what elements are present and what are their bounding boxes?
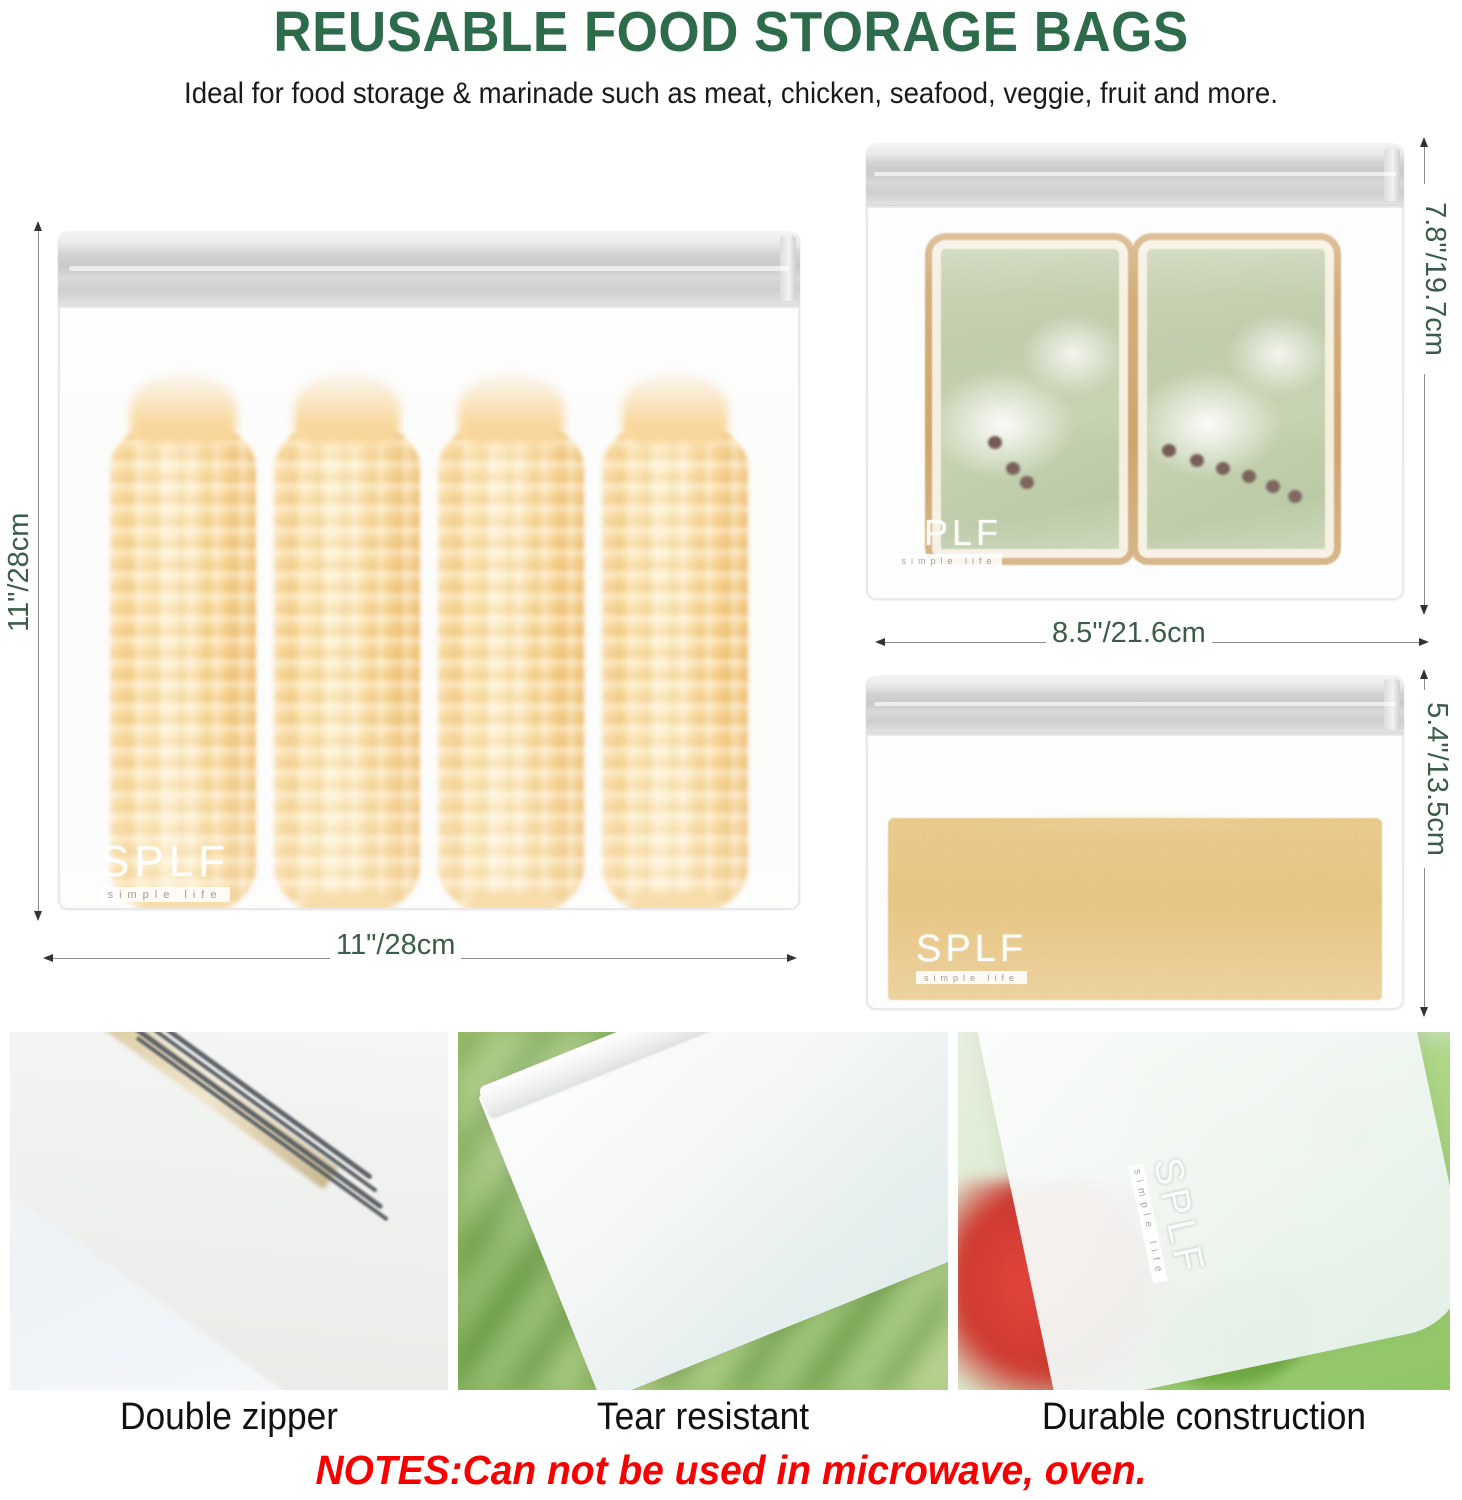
feature-caption-tear-resistant: Tear resistant — [475, 1392, 931, 1444]
arrow-head-down-icon — [1420, 605, 1428, 615]
zipper-tab-icon — [780, 236, 796, 300]
warning-note: NOTES:Can not be used in microwave, oven… — [37, 1444, 1426, 1496]
dimension-line-corn-height — [38, 230, 39, 912]
red-bean — [1020, 476, 1034, 489]
arrow-head-up-icon — [1420, 137, 1428, 147]
brand-tagline: simple life — [100, 887, 230, 902]
red-bean — [1266, 480, 1280, 493]
dimension-label-corn-width: 11"/28cm — [330, 928, 461, 962]
page-title: REUSABLE FOOD STORAGE BAGS — [51, 2, 1411, 62]
brand-logo: SPLF simple life — [100, 840, 230, 902]
dimension-label-sandwich-height: 7.8"/19.7cm — [1418, 184, 1452, 374]
feature-image-double-zipper — [10, 1032, 448, 1390]
red-bean — [1006, 462, 1020, 475]
brand-mark: SPLF — [916, 930, 1027, 968]
corn-cob — [602, 418, 748, 910]
zipper-strip-icon — [58, 232, 800, 306]
red-bean — [1190, 454, 1204, 467]
zipper-tab-icon — [1384, 679, 1400, 729]
brand-mark: SPLF — [896, 515, 1002, 551]
toast-slice — [932, 240, 1128, 558]
brand-logo: SPLF simple life — [916, 930, 1027, 984]
red-bean — [1288, 490, 1302, 503]
dimension-label-corn-height: 11"/28cm — [2, 508, 36, 638]
arrow-head-left-icon — [875, 638, 885, 646]
red-bean — [988, 436, 1002, 449]
product-infographic: REUSABLE FOOD STORAGE BAGS Ideal for foo… — [0, 0, 1462, 1500]
brand-tagline: simple life — [896, 554, 1002, 567]
bag-body — [58, 306, 800, 910]
corn-cob — [274, 418, 420, 910]
zipper-strip-icon — [866, 144, 1404, 206]
red-bean — [1242, 470, 1256, 483]
arrow-head-right-icon — [1419, 638, 1429, 646]
brand-logo: SPLF simple life — [896, 515, 1002, 567]
feature-caption-durable-construction: Durable construction — [975, 1392, 1433, 1444]
feature-image-tear-resistant — [458, 1032, 948, 1390]
dimension-label-grain-height: 5.4"/13.5cm — [1420, 690, 1454, 868]
arrow-head-right-icon — [787, 954, 797, 962]
arrow-head-down-icon — [1420, 1007, 1428, 1017]
dimension-label-sandwich-width: 8.5"/21.6cm — [1046, 616, 1212, 650]
corn-cob — [438, 418, 584, 910]
arrow-head-up-icon — [34, 221, 42, 231]
toast-slice — [1138, 240, 1334, 558]
zipper-strip-icon — [866, 676, 1404, 734]
feature-caption-double-zipper: Double zipper — [25, 1392, 432, 1444]
brand-mark: SPLF — [100, 840, 230, 884]
red-bean — [1162, 444, 1176, 457]
arrow-head-down-icon — [34, 911, 42, 921]
brand-tagline: simple life — [916, 971, 1027, 984]
zipper-tab-icon — [1384, 148, 1400, 202]
arrow-head-up-icon — [1420, 669, 1428, 679]
product-image-large-corn-bag — [58, 232, 800, 910]
feature-image-durable-construction: SPLF simple life — [958, 1032, 1450, 1390]
red-bean — [1216, 462, 1230, 475]
arrow-head-left-icon — [43, 954, 53, 962]
page-subtitle: Ideal for food storage & marinade such a… — [58, 76, 1403, 112]
